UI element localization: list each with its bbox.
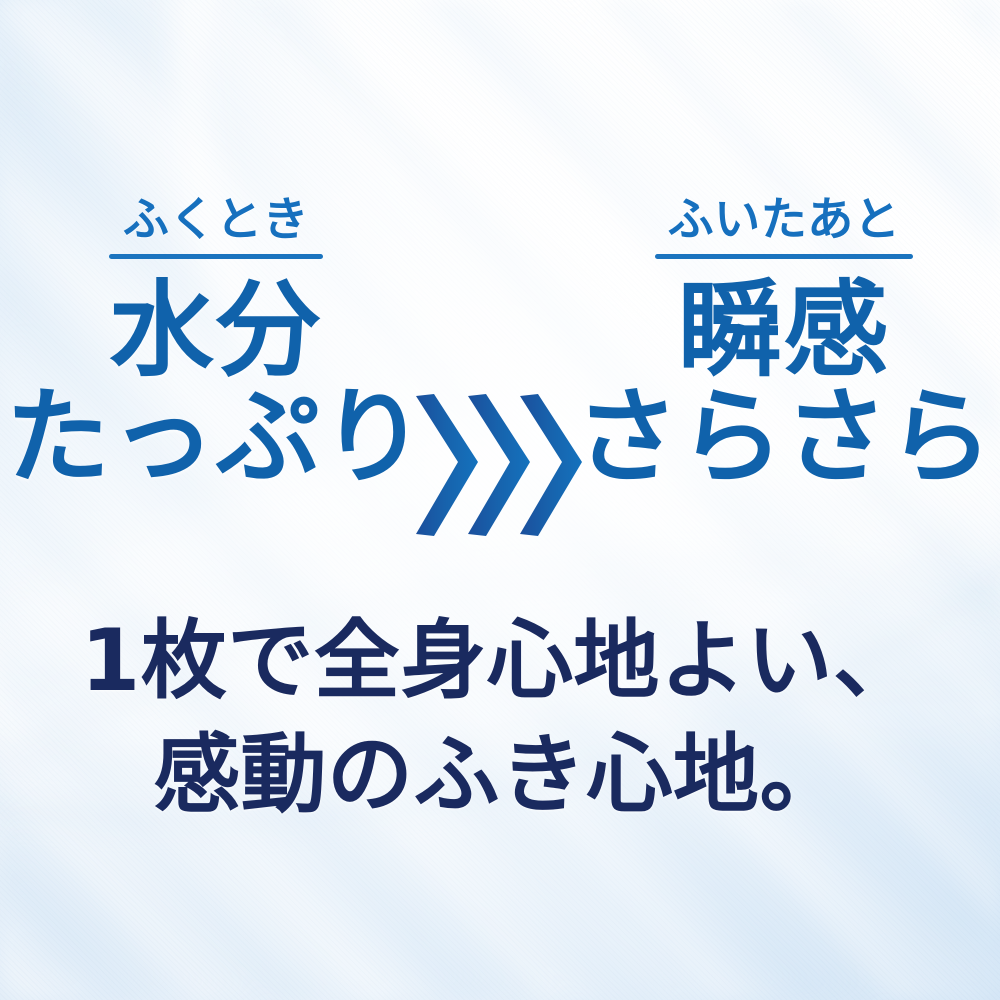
- before-after-comparison: ふくとき 水分 たっぷり: [0, 196, 1000, 566]
- after-headline-line-2: さらさら: [575, 386, 993, 489]
- before-kicker-underline: [109, 254, 323, 259]
- before-kicker-label: ふくとき: [123, 196, 309, 243]
- tagline: 1枚で全身心地よい、 感動のふき心地。: [0, 612, 1000, 826]
- after-panel: ふいたあと 瞬感 さらさら: [588, 196, 980, 489]
- after-headline-line-1: 瞬感: [575, 279, 993, 382]
- after-kicker-underline: [655, 254, 913, 259]
- before-headline-line-2: たっぷり: [6, 386, 426, 489]
- after-kicker-label: ふいたあと: [668, 196, 901, 243]
- triple-chevron-right-icon: [412, 390, 588, 540]
- banner-content: ふくとき 水分 たっぷり: [0, 0, 1000, 1000]
- after-headline: 瞬感 さらさら: [575, 279, 993, 489]
- ad-banner: ふくとき 水分 たっぷり: [0, 0, 1000, 1000]
- before-panel: ふくとき 水分 たっぷり: [20, 196, 412, 489]
- before-headline: 水分 たっぷり: [6, 279, 426, 489]
- before-headline-line-1: 水分: [6, 279, 426, 382]
- tagline-line-2: 感動のふき心地。: [0, 726, 1000, 826]
- tagline-line-1: 1枚で全身心地よい、: [0, 612, 1000, 712]
